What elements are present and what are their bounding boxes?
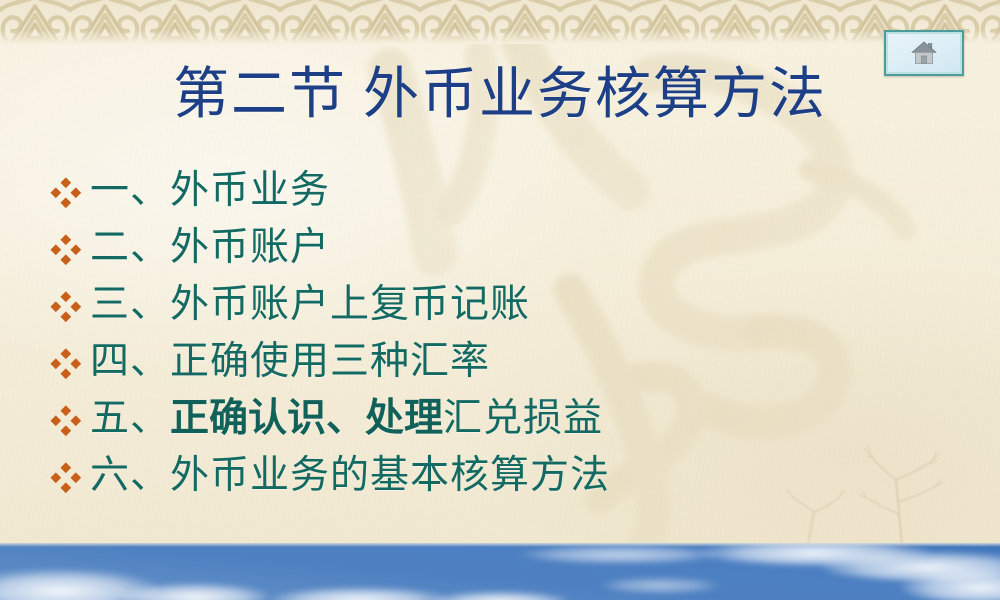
sky-footer-image (0, 543, 1000, 600)
list-item[interactable]: 四、正确使用三种汇率 (48, 333, 948, 390)
list-item[interactable]: 五、正确认识、处理汇兑损益 (48, 390, 948, 447)
list-item-emphasis: 正确认识、处理 (170, 397, 443, 440)
list-item-label: 六、外币业务的基本核算方法 (90, 454, 610, 498)
top-decorative-border (0, 0, 1000, 44)
list-item-prefix: 五、 (90, 397, 170, 440)
diamond-cluster-bullet-icon (48, 403, 82, 437)
list-item[interactable]: 二、外币账户 (48, 219, 948, 276)
list-item-label: 二、外币账户 (90, 226, 330, 270)
diamond-cluster-bullet-icon (48, 289, 82, 323)
list-item[interactable]: 一、外币业务 (48, 162, 948, 219)
list-item-label: 五、正确认识、处理汇兑损益 (90, 397, 603, 441)
list-item[interactable]: 六、外币业务的基本核算方法 (48, 447, 948, 504)
diamond-cluster-bullet-icon (48, 346, 82, 380)
list-item[interactable]: 三、外币账户上复币记账 (48, 276, 948, 333)
diamond-cluster-bullet-icon (48, 460, 82, 494)
cloud-layer (0, 543, 1000, 600)
list-item-suffix: 汇兑损益 (443, 397, 603, 440)
diamond-cluster-bullet-icon (48, 232, 82, 266)
bullet-list: 一、外币业务 二、外币账户 (48, 162, 948, 504)
presentation-slide: 第二节 外币业务核算方法 一、外币业务 (0, 0, 1000, 600)
slide-title: 第二节 外币业务核算方法 (0, 62, 1000, 128)
list-item-label: 三、外币账户上复币记账 (90, 283, 530, 327)
diamond-cluster-bullet-icon (48, 175, 82, 209)
list-item-label: 四、正确使用三种汇率 (90, 340, 490, 384)
list-item-label: 一、外币业务 (90, 169, 330, 213)
